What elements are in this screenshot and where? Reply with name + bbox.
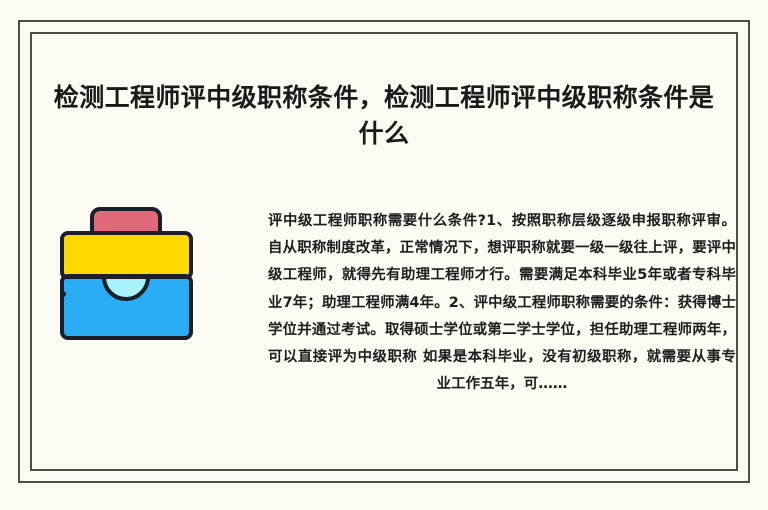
article-page: 检测工程师评中级职称条件，检测工程师评中级职称条件是什么 评中级工程师职称需要什… [0,0,768,510]
briefcase-lid-shape [62,233,191,278]
briefcase-toolbox-illustration [46,202,246,352]
article-content: 评中级工程师职称需要什么条件?1、按照职称层级逐级申报职称评审。自从职称制度改革… [46,196,736,441]
briefcase-hinge-dot [60,291,66,297]
page-title: 检测工程师评中级职称条件，检测工程师评中级职称条件是什么 [52,80,716,152]
article-body: 评中级工程师职称需要什么条件?1、按照职称层级逐级申报职称评审。自从职称制度改革… [268,208,736,398]
